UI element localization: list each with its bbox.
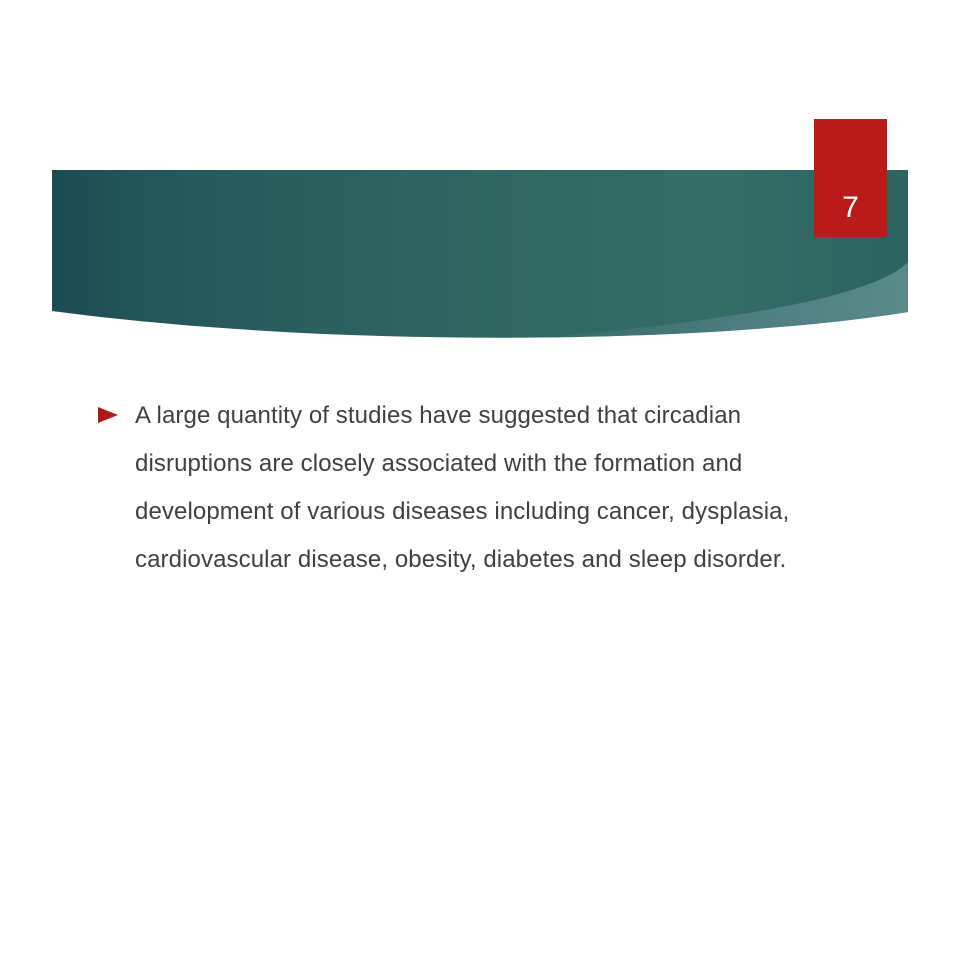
bullet-item-text: A large quantity of studies have suggest… <box>135 392 808 584</box>
bullet-item: A large quantity of studies have suggest… <box>0 392 960 584</box>
triangle-right-icon <box>98 407 118 423</box>
slide-number-value: 7 <box>842 193 859 223</box>
slide-number-badge: 7 <box>814 119 887 237</box>
slide-body: A large quantity of studies have suggest… <box>0 392 960 584</box>
banner-shape <box>52 170 908 338</box>
presentation-slide: 7 A large quantity of studies have sugge… <box>0 0 960 960</box>
banner-accent-swoosh <box>560 262 908 337</box>
